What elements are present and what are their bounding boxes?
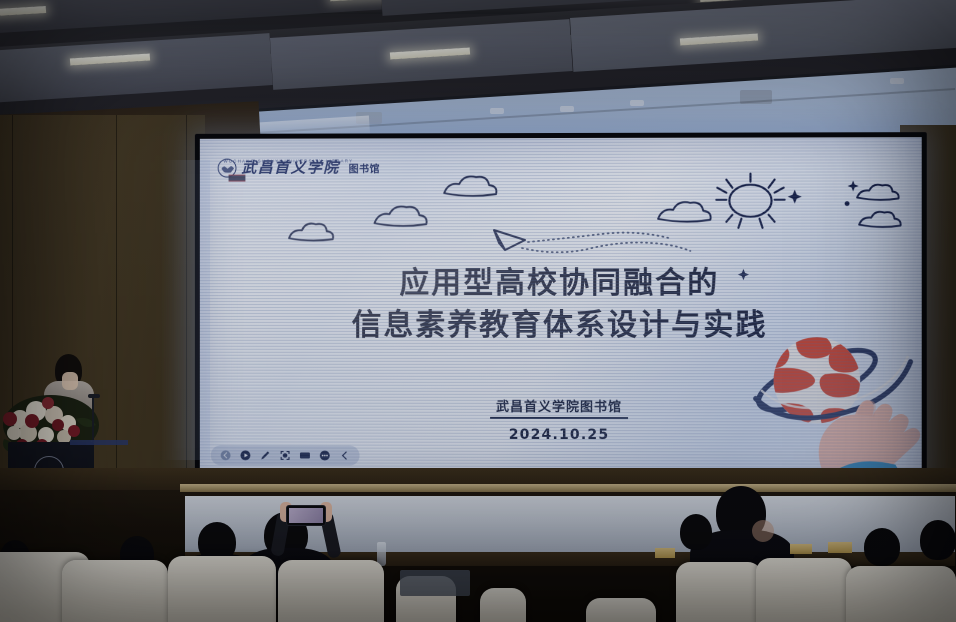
chevron-left-icon[interactable] — [339, 450, 351, 462]
chair-back — [480, 588, 526, 622]
cloud-doodle-icon — [375, 206, 427, 225]
conference-hall-photo: 武昌首义学院 图书馆 WUCHANG SHOUYI UNIVERSITY LIB… — [0, 0, 956, 622]
chair-back — [168, 556, 276, 622]
ellipsis-circle-icon[interactable] — [319, 450, 331, 462]
chair-back — [676, 562, 762, 622]
cloud-doodle-icon — [857, 185, 898, 200]
chair-back — [756, 558, 852, 622]
focus-target-icon[interactable] — [279, 449, 291, 461]
smartphone-camera — [286, 505, 326, 526]
cloud-doodle-icon — [289, 224, 333, 241]
paper-plane-doodle-icon — [494, 230, 525, 250]
chair-back — [62, 560, 168, 622]
presentation-toolbar[interactable] — [211, 445, 360, 465]
cloud-doodle-icon — [859, 212, 900, 227]
recessed-downlight — [630, 100, 644, 106]
chair-back — [278, 560, 384, 622]
cloud-doodle-icon — [444, 176, 496, 196]
audience-head — [680, 514, 712, 550]
title-line-1: 应用型高校协同融合的 — [200, 264, 922, 304]
name-card — [828, 542, 852, 553]
chair-back — [586, 598, 656, 622]
planet-hand-illustration — [744, 322, 921, 477]
play-circle-icon[interactable] — [239, 449, 251, 461]
phone-screen — [289, 508, 323, 523]
screen-icon[interactable] — [299, 449, 311, 461]
pen-icon[interactable] — [259, 449, 271, 461]
plane-trail-dotted — [522, 233, 690, 253]
chevron-left-circle-icon[interactable] — [220, 449, 232, 461]
name-card — [655, 548, 675, 558]
subtitle-organization: 武昌首义学院图书馆 — [490, 396, 628, 419]
audience-head — [864, 528, 900, 566]
cloud-doodle-icon — [658, 202, 711, 222]
presentation-slide: 武昌首义学院 图书馆 WUCHANG SHOUYI UNIVERSITY LIB… — [200, 137, 922, 477]
recessed-downlight — [490, 108, 504, 114]
audience-head — [920, 520, 956, 560]
chair-back — [846, 566, 956, 622]
led-wall-screen: 武昌首义学院 图书馆 WUCHANG SHOUYI UNIVERSITY LIB… — [195, 132, 927, 482]
name-card — [790, 544, 812, 554]
sun-doodle-icon — [716, 174, 784, 228]
recessed-downlight — [890, 78, 904, 84]
